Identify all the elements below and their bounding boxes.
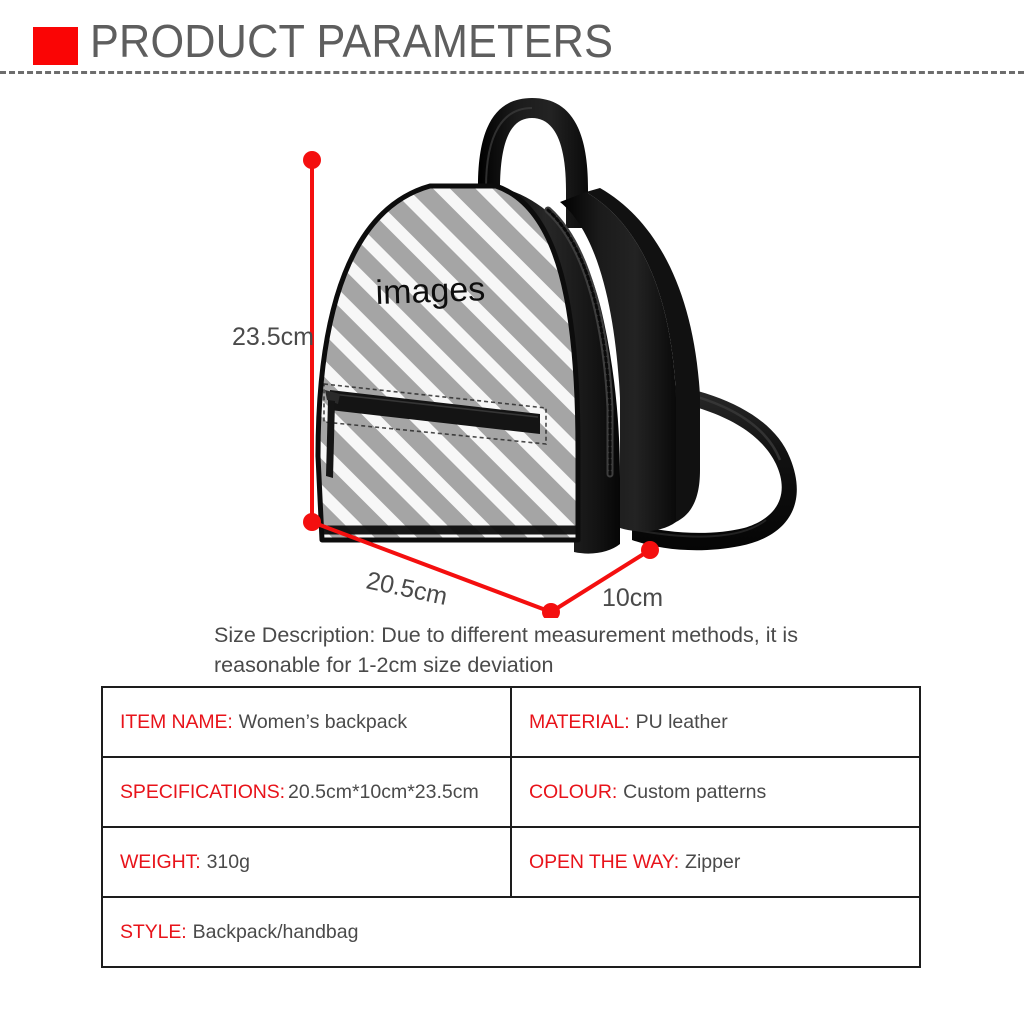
table-cell-weight: WEIGHT:310g [102, 827, 511, 897]
red-square-marker-icon [33, 27, 78, 65]
table-cell-open-the-way: OPEN THE WAY:Zipper [511, 827, 920, 897]
table-cell-item-name: ITEM NAME:Women’s backpack [102, 687, 511, 757]
cell-value: Custom patterns [617, 781, 766, 803]
header-divider [0, 71, 1024, 74]
table-cell-colour: COLOUR:Custom patterns [511, 757, 920, 827]
cell-value: Zipper [679, 851, 740, 873]
size-description-note: Size Description: Due to different measu… [214, 620, 854, 680]
cell-key: OPEN THE WAY: [529, 851, 679, 873]
cell-key: STYLE: [120, 921, 187, 943]
depth-end-marker [641, 541, 659, 559]
height-dimension-label: 23.5cm [232, 323, 314, 351]
cell-value: 310g [201, 851, 250, 873]
depth-dimension-label: 10cm [602, 584, 663, 612]
cell-value: PU leather [630, 711, 728, 733]
product-parameters-page: PRODUCT PARAMETERS [0, 0, 1024, 1021]
backpack-diagram: images [0, 78, 1024, 618]
page-title: PRODUCT PARAMETERS [90, 12, 613, 70]
cell-value: Women’s backpack [233, 711, 407, 733]
specification-table: ITEM NAME:Women’s backpack MATERIAL:PU l… [101, 686, 921, 968]
cell-key: ITEM NAME: [120, 711, 233, 733]
page-header: PRODUCT PARAMETERS [0, 0, 1024, 78]
table-row: SPECIFICATIONS:20.5cm*10cm*23.5cm COLOUR… [102, 757, 920, 827]
cell-key: SPECIFICATIONS: [120, 781, 285, 803]
table-row: ITEM NAME:Women’s backpack MATERIAL:PU l… [102, 687, 920, 757]
table-cell-style: STYLE:Backpack/handbag [102, 897, 920, 967]
cell-key: COLOUR: [529, 781, 617, 803]
table-cell-material: MATERIAL:PU leather [511, 687, 920, 757]
table-cell-specifications: SPECIFICATIONS:20.5cm*10cm*23.5cm [102, 757, 511, 827]
cell-value: 20.5cm*10cm*23.5cm [285, 781, 479, 803]
cell-key: MATERIAL: [529, 711, 630, 733]
width-dimension-label: 20.5cm [364, 566, 450, 610]
height-top-marker [303, 151, 321, 169]
cell-key: WEIGHT: [120, 851, 201, 873]
table-row: WEIGHT:310g OPEN THE WAY:Zipper [102, 827, 920, 897]
cell-value: Backpack/handbag [187, 921, 359, 943]
table-row: STYLE:Backpack/handbag [102, 897, 920, 967]
product-illustration: images [0, 78, 1024, 618]
panel-watermark: images [375, 270, 486, 312]
